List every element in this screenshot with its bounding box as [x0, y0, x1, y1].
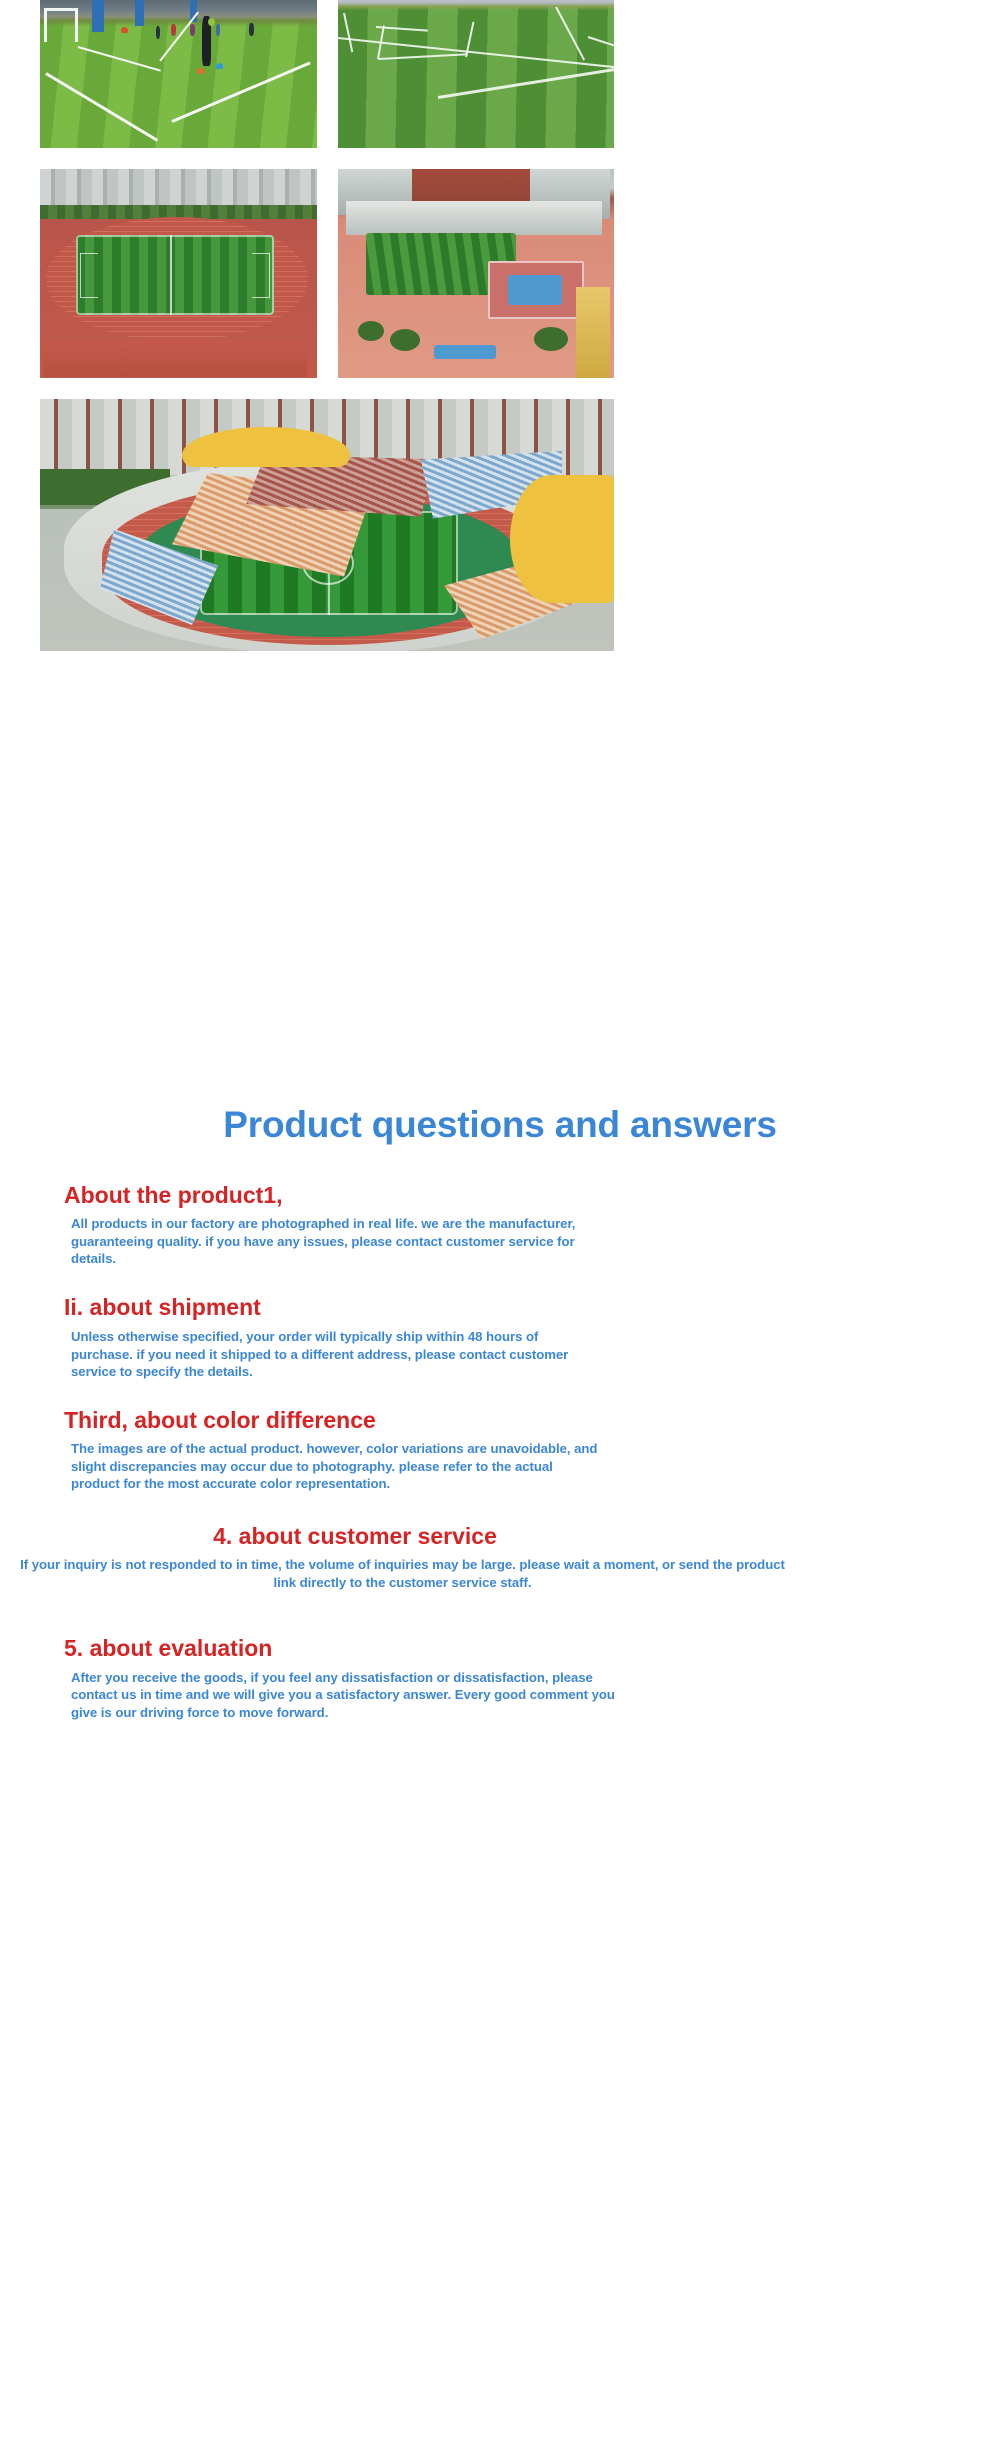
gallery-row-1: [40, 0, 614, 148]
qa-body-color-difference: The images are of the actual product. ho…: [71, 1440, 600, 1493]
page-title: Product questions and answers: [0, 1105, 1000, 1146]
qa-heading-product: About the product1,: [64, 1182, 1000, 1208]
gallery-row-3: [40, 399, 614, 651]
qa-body-evaluation: After you receive the goods, if you feel…: [71, 1669, 640, 1722]
qa-heading-color-difference: Third, about color difference: [64, 1407, 1000, 1433]
photo-campus-sports-courts[interactable]: [338, 169, 615, 378]
qa-section-product: About the product1, All products in our …: [0, 1182, 1000, 1268]
qa-section-customer-service: 4. about customer service If your inquir…: [0, 1523, 1000, 1592]
qa-body-customer-service: If your inquiry is not responded to in t…: [20, 1556, 785, 1591]
photo-stadium-aerial[interactable]: [40, 399, 614, 651]
product-qa-block: Product questions and answers About the …: [0, 1105, 1000, 1748]
gallery-row-2: [40, 169, 614, 378]
product-image-gallery: [40, 0, 614, 672]
qa-heading-evaluation: 5. about evaluation: [64, 1635, 1000, 1661]
qa-heading-customer-service: 4. about customer service: [0, 1523, 710, 1549]
qa-heading-shipment: Ii. about shipment: [64, 1294, 1000, 1320]
qa-section-shipment: Ii. about shipment Unless otherwise spec…: [0, 1294, 1000, 1381]
qa-section-evaluation: 5. about evaluation After you receive th…: [0, 1635, 1000, 1721]
qa-body-shipment: Unless otherwise specified, your order w…: [71, 1328, 600, 1381]
qa-section-color-difference: Third, about color difference The images…: [0, 1407, 1000, 1493]
photo-football-pitch-players[interactable]: [40, 0, 317, 148]
photo-wide-turf-field[interactable]: [338, 0, 615, 148]
qa-body-product: All products in our factory are photogra…: [71, 1215, 600, 1268]
photo-aerial-track-and-field[interactable]: [40, 169, 317, 378]
